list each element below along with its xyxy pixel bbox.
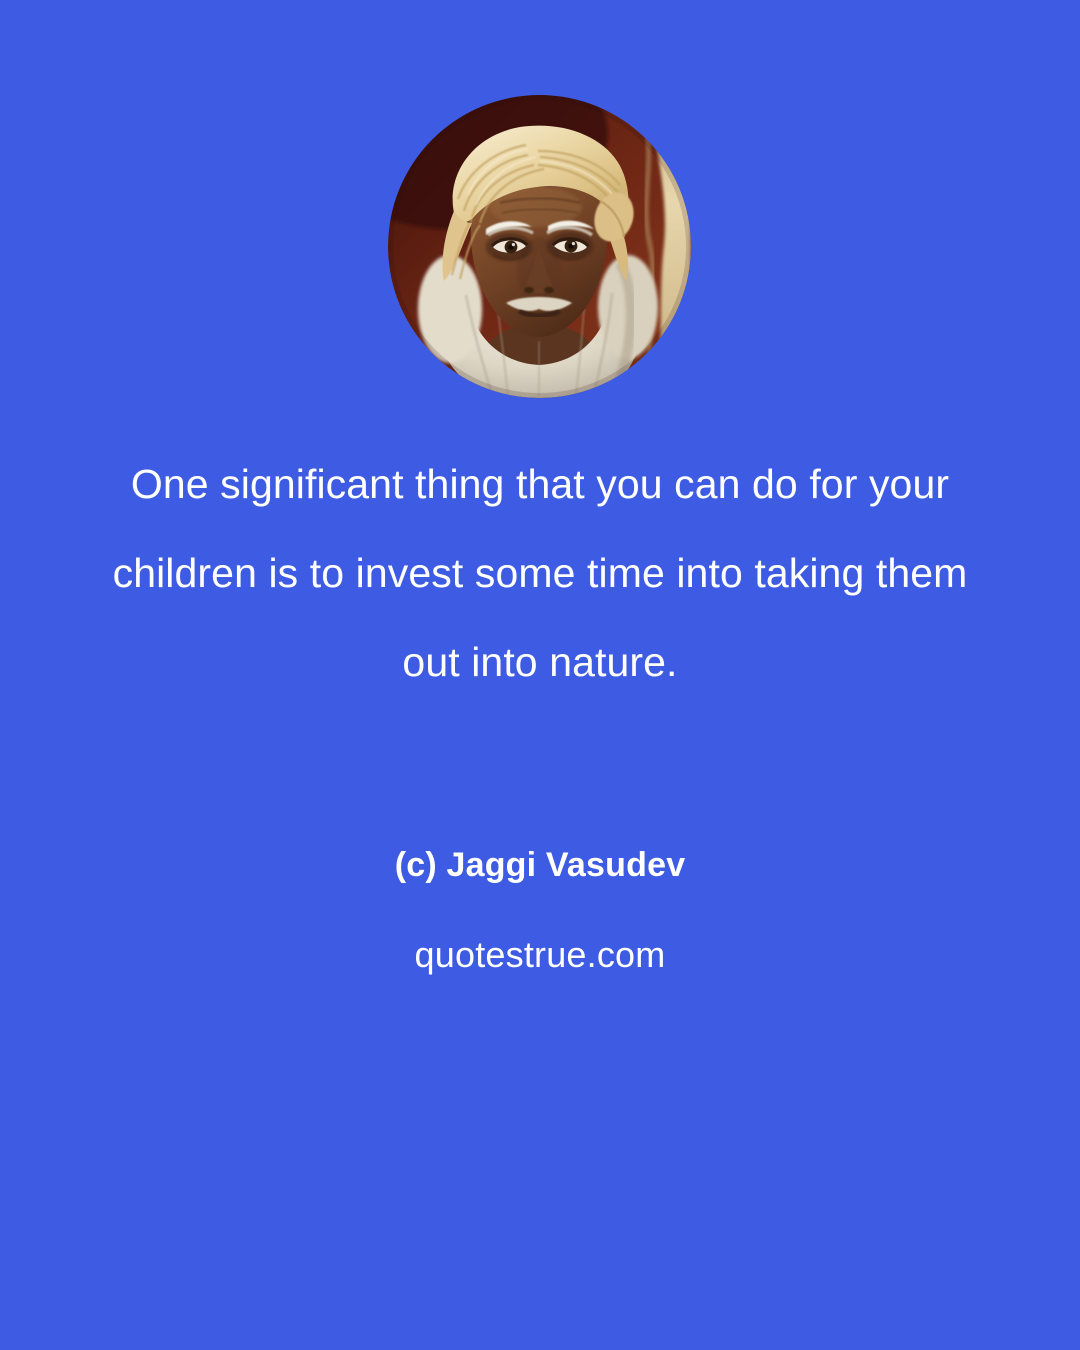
author-attribution: (c) Jaggi Vasudev [90, 841, 990, 889]
quote-text: One significant thing that you can do fo… [100, 440, 980, 707]
source-website: quotestrue.com [90, 931, 990, 979]
author-portrait-image [388, 95, 691, 398]
author-portrait [388, 95, 691, 398]
quote-card: One significant thing that you can do fo… [0, 0, 1080, 1350]
